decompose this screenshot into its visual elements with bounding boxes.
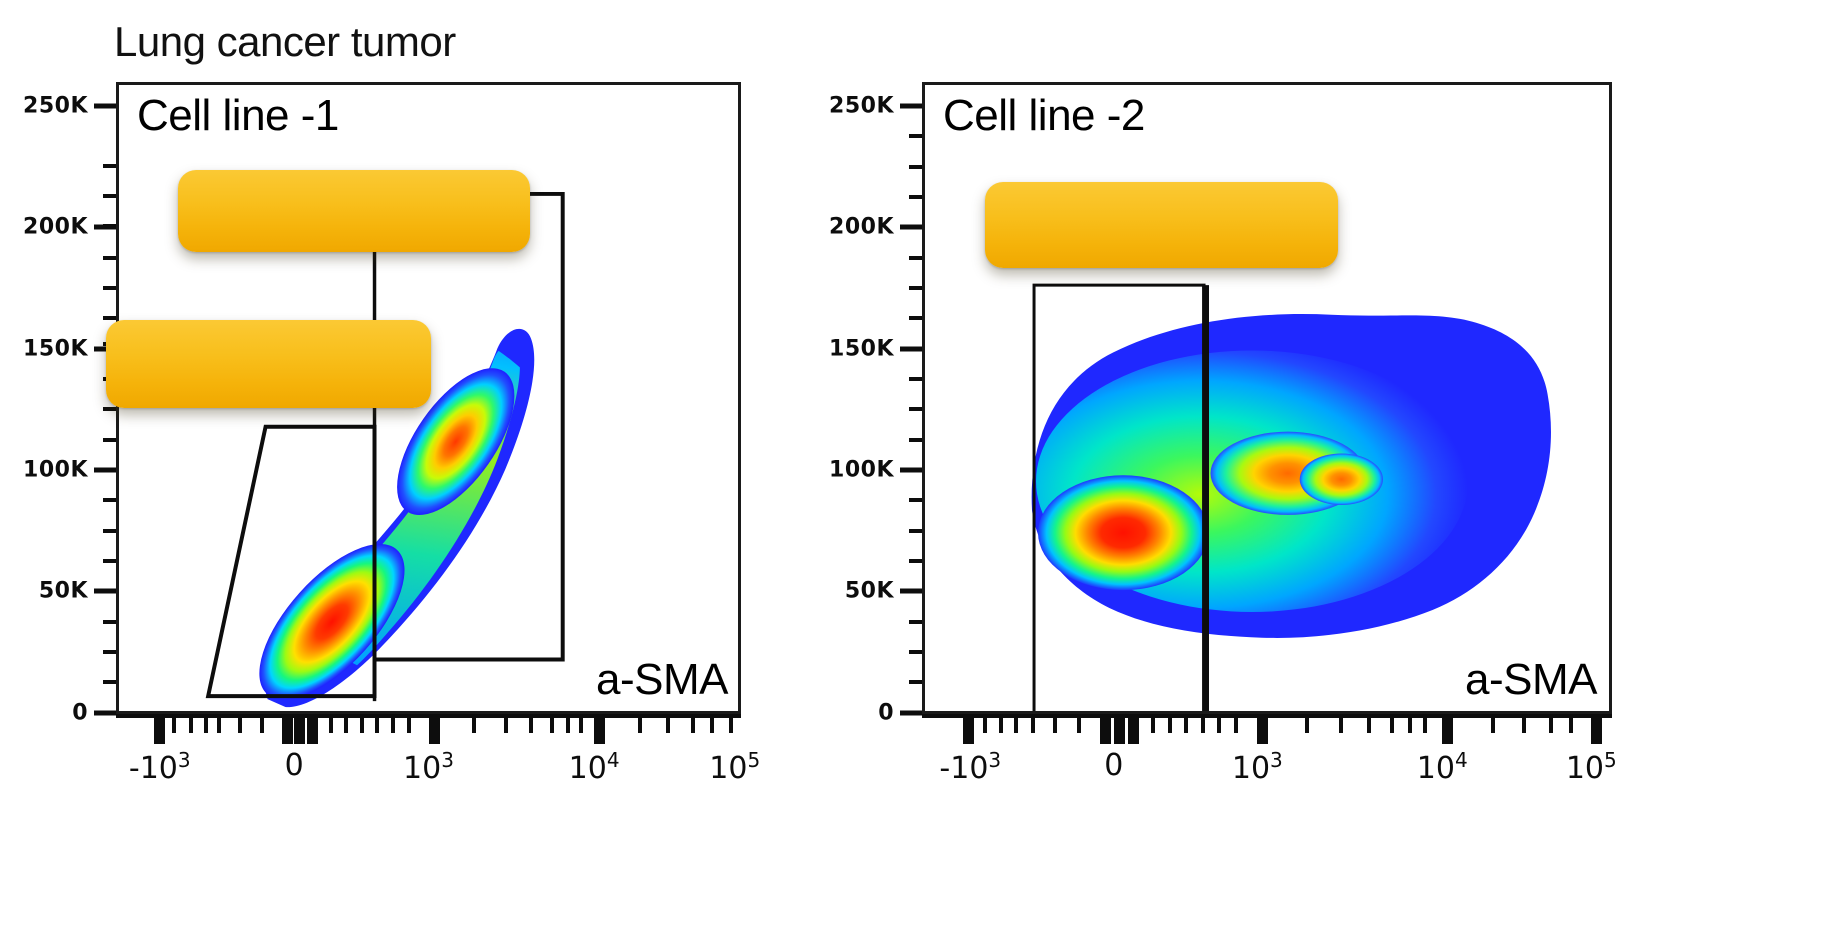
density-plot-cell-line-2 [925, 85, 1609, 711]
y-tick-mark-minor [909, 498, 922, 502]
x-tick-major [1257, 718, 1268, 744]
x-tick-minor [204, 718, 208, 733]
x-tick-label: 0 [1104, 748, 1123, 783]
y-tick-mark-minor [103, 316, 116, 320]
x-tick-minor [666, 718, 670, 733]
x-tick-minor [983, 718, 987, 733]
y-tick-mark-minor [909, 165, 922, 169]
y-tick-label: 50K [845, 579, 894, 604]
y-tick-mark-minor [909, 680, 922, 684]
y-tick-mark-minor [103, 529, 116, 533]
x-tick-minor [999, 718, 1003, 733]
y-tick-label: 50K [39, 579, 88, 604]
y-tick-mark [94, 710, 116, 715]
x-tick-label: 105 [1566, 748, 1617, 786]
x-tick-label: 104 [1417, 748, 1468, 786]
y-tick-label: 100K [829, 458, 894, 483]
x-tick-minor [260, 718, 264, 733]
x-tick-label: 103 [403, 748, 454, 786]
x-tick-minor [1234, 718, 1238, 733]
x-tick-minor [638, 718, 642, 733]
y-tick-mark [94, 589, 116, 594]
y-tick-mark-minor [909, 134, 922, 138]
x-tick-major [282, 718, 293, 744]
x-tick-label: 103 [1232, 748, 1283, 786]
x-tick-major [1591, 718, 1602, 744]
x-axis-right: -103 0 103 104 105 [922, 714, 1612, 804]
x-tick-minor [529, 718, 533, 733]
y-tick-mark [94, 225, 116, 230]
redaction-callout-left-upper [178, 170, 530, 252]
y-tick-mark-minor [103, 194, 116, 198]
x-tick-minor [375, 718, 379, 733]
panel-title-cell-line-2: Cell line -2 [943, 91, 1145, 141]
redaction-callout-right-upper [985, 182, 1338, 268]
y-tick-mark-minor [103, 680, 116, 684]
y-tick-mark-minor [103, 438, 116, 442]
x-tick-minor [329, 718, 333, 733]
x-tick-label: -103 [129, 748, 191, 786]
y-axis-right: 250K 200K 150K 100K [802, 82, 922, 714]
x-tick-minor [1549, 718, 1553, 733]
x-tick-minor [1014, 718, 1018, 733]
y-tick-mark-minor [909, 195, 922, 199]
x-tick-minor [729, 718, 733, 733]
panel-cell-line-2: 250K 200K 150K 100K [830, 0, 1846, 927]
x-tick-minor [1367, 718, 1371, 733]
y-tick-label: 150K [829, 336, 894, 361]
y-tick-mark [94, 468, 116, 473]
x-tick-major [1100, 718, 1111, 744]
y-tick-mark-minor [909, 620, 922, 624]
density-peak-secondary-b [1300, 453, 1383, 505]
y-tick-mark-minor [103, 407, 116, 411]
x-tick-minor [1151, 718, 1155, 733]
x-axis-left: -103 0 103 104 105 [116, 714, 741, 804]
y-tick-mark-minor [103, 164, 116, 168]
x-tick-minor [1217, 718, 1221, 733]
x-tick-minor [579, 718, 583, 733]
x-tick-minor [504, 718, 508, 733]
y-tick-mark-minor [909, 650, 922, 654]
y-tick-mark-minor [909, 438, 922, 442]
x-tick-label: -103 [939, 748, 1001, 786]
y-tick-mark [900, 589, 922, 594]
x-tick-minor [710, 718, 714, 733]
y-tick-mark-minor [103, 650, 116, 654]
x-tick-major [429, 718, 440, 744]
x-tick-minor [550, 718, 554, 733]
plot-area-cell-line-2: Cell line -2 a-SMA [922, 82, 1612, 714]
x-axis-title-cell-line-1: a-SMA [596, 655, 728, 705]
y-tick-label: 100K [23, 458, 88, 483]
x-tick-minor [1184, 718, 1188, 733]
density-cloud [155, 237, 677, 711]
y-tick-mark [900, 346, 922, 351]
x-tick-minor [360, 718, 364, 733]
y-tick-mark-minor [909, 377, 922, 381]
density-peak-primary [1038, 475, 1209, 590]
panel-cell-line-1: 250K 200K 150K 100K [0, 0, 830, 927]
x-tick-minor [472, 718, 476, 733]
y-tick-mark [900, 468, 922, 473]
y-tick-mark-minor [103, 498, 116, 502]
x-tick-major [307, 718, 318, 744]
y-tick-mark-minor [909, 286, 922, 290]
x-tick-minor [217, 718, 221, 733]
y-tick-mark-minor [103, 559, 116, 563]
x-axis-title-cell-line-2: a-SMA [1465, 655, 1597, 705]
flow-cytometry-figure: Lung cancer tumor 250K 200K 150K [0, 0, 1846, 927]
x-tick-major [154, 718, 165, 744]
redaction-callout-left-lower [106, 320, 431, 408]
y-tick-label: 250K [23, 94, 88, 119]
y-tick-mark-minor [909, 559, 922, 563]
x-tick-label: 105 [709, 748, 760, 786]
y-tick-mark-minor [909, 407, 922, 411]
x-tick-major [594, 718, 605, 744]
y-tick-mark [900, 225, 922, 230]
y-tick-label: 200K [23, 215, 88, 240]
x-tick-minor [1423, 718, 1427, 733]
x-tick-minor [344, 718, 348, 733]
x-tick-minor [189, 718, 193, 733]
y-tick-mark-minor [103, 620, 116, 624]
x-tick-minor [1031, 718, 1035, 733]
x-tick-minor [1168, 718, 1172, 733]
y-tick-mark-minor [103, 286, 116, 290]
x-tick-major [1442, 718, 1453, 744]
x-tick-minor [172, 718, 176, 733]
x-tick-minor [566, 718, 570, 733]
y-tick-mark [94, 104, 116, 109]
y-tick-mark-minor [909, 316, 922, 320]
panel-title-cell-line-1: Cell line -1 [137, 91, 339, 141]
x-tick-label: 0 [285, 748, 304, 783]
x-tick-minor [1390, 718, 1394, 733]
y-tick-mark [900, 710, 922, 715]
x-tick-minor [1569, 718, 1573, 733]
y-tick-mark-minor [909, 256, 922, 260]
y-axis-left: 250K 200K 150K 100K [0, 82, 116, 714]
x-tick-minor [1522, 718, 1526, 733]
x-tick-minor [407, 718, 411, 733]
y-tick-label: 200K [829, 215, 894, 240]
y-tick-label: 0 [72, 700, 88, 725]
y-tick-label: 0 [878, 700, 894, 725]
x-tick-minor [691, 718, 695, 733]
x-tick-major [1114, 718, 1125, 744]
x-tick-minor [1053, 718, 1057, 733]
x-tick-minor [238, 718, 242, 733]
x-tick-minor [1339, 718, 1343, 733]
x-tick-minor [1201, 718, 1205, 733]
x-tick-minor [1077, 718, 1081, 733]
y-tick-label: 250K [829, 94, 894, 119]
y-tick-mark-minor [909, 529, 922, 533]
density-cloud [1032, 314, 1551, 638]
y-tick-mark-minor [103, 256, 116, 260]
x-tick-major [1128, 718, 1139, 744]
x-tick-minor [391, 718, 395, 733]
y-tick-mark [900, 104, 922, 109]
x-tick-minor [1491, 718, 1495, 733]
y-tick-label: 150K [23, 336, 88, 361]
x-tick-major [294, 718, 305, 744]
x-tick-label: 104 [569, 748, 620, 786]
x-tick-minor [1305, 718, 1309, 733]
x-tick-minor [1408, 718, 1412, 733]
x-tick-major [963, 718, 974, 744]
